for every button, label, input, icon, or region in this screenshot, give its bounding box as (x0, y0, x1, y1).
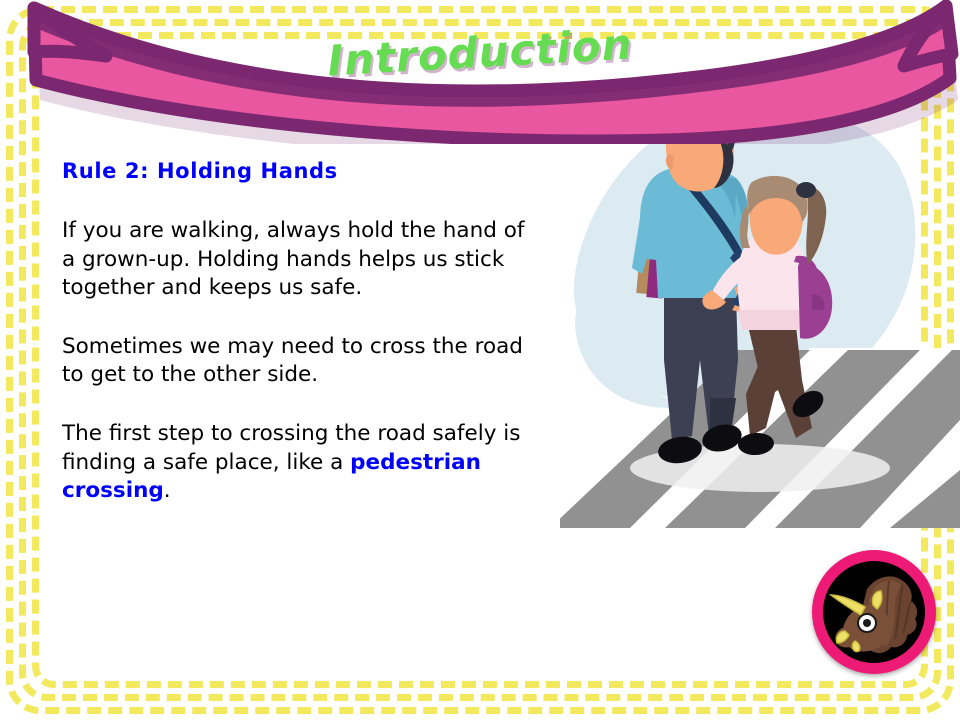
text-run: . (164, 478, 171, 503)
title-banner: Introduction (0, 0, 960, 144)
rule-heading: Rule 2: Holding Hands (62, 160, 532, 183)
mascot-badge[interactable] (812, 550, 936, 674)
mascot-disc (823, 561, 925, 663)
text-run: If you are walking, always hold the hand… (62, 218, 524, 300)
ribbon-shape (34, 6, 958, 144)
paragraph-2: Sometimes we may need to cross the road … (62, 333, 532, 390)
content-text-block: Rule 2: Holding Hands If you are walking… (62, 160, 532, 506)
text-run: Sometimes we may need to cross the road … (62, 334, 523, 388)
illustration-crossing-scene (560, 98, 960, 528)
paragraph-1: If you are walking, always hold the hand… (62, 217, 532, 303)
slide-canvas: Introduction Rule 2: Holding Hands If yo… (0, 0, 960, 720)
paragraph-3: The first step to crossing the road safe… (62, 420, 532, 506)
triceratops-icon (823, 561, 925, 663)
